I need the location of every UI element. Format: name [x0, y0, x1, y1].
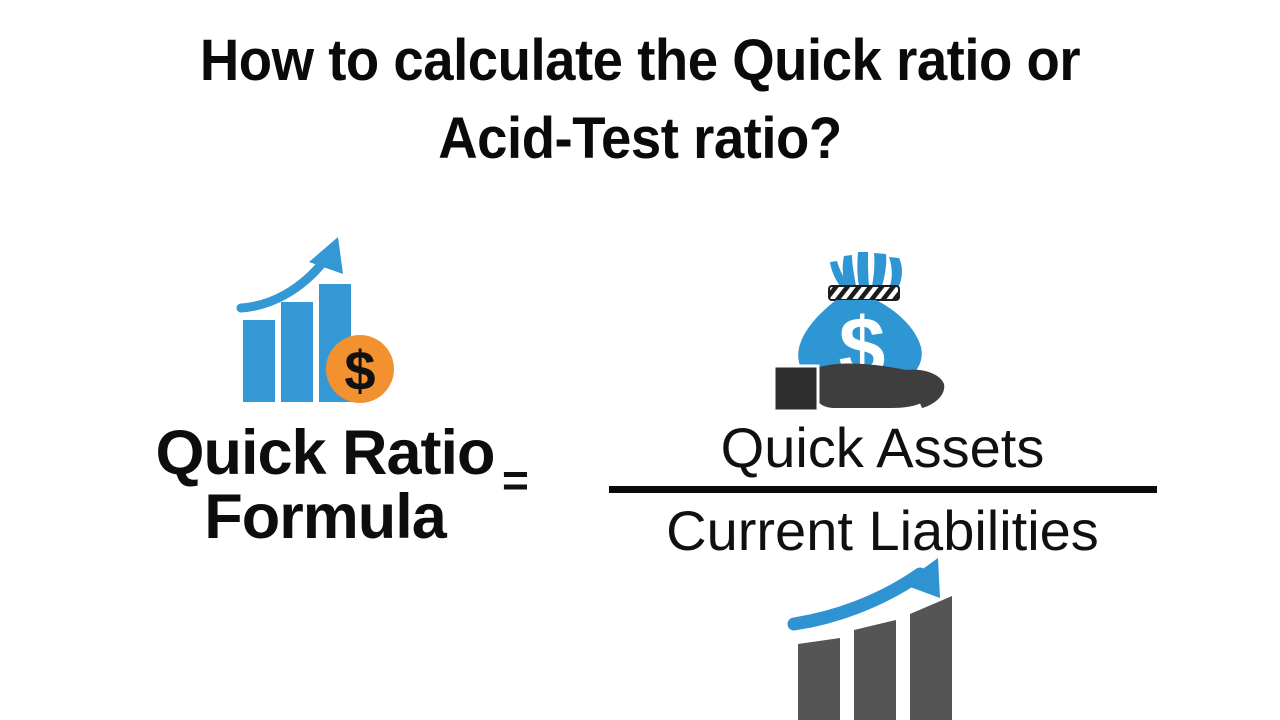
formula-label-line-1: Quick Ratio: [110, 422, 540, 484]
title-line-1: How to calculate the Quick ratio or: [38, 22, 1241, 100]
fraction-bar: [609, 486, 1157, 493]
growth-bar-2: [854, 620, 896, 720]
money-bag-top: [830, 252, 902, 286]
svg-text:$: $: [344, 339, 375, 402]
formula-label-line-2: Formula: [110, 484, 540, 550]
bar-chart-dollar-icon: $: [235, 232, 405, 402]
quick-ratio-fraction: Quick Assets Current Liabilities: [600, 415, 1165, 566]
growth-bar-chart-icon: [788, 556, 968, 720]
money-bag-tie: [829, 286, 899, 300]
bar-2: [281, 302, 313, 402]
fraction-numerator: Quick Assets: [600, 415, 1165, 481]
quick-ratio-formula-group: $ Quick Ratio Formula: [110, 232, 540, 572]
dollar-coin-icon: $: [326, 335, 394, 403]
growth-bar-3: [910, 596, 952, 720]
equals-sign: =: [502, 457, 529, 503]
formula-label: Quick Ratio Formula: [110, 422, 540, 550]
bar-1: [243, 320, 275, 402]
page-title: How to calculate the Quick ratio or Acid…: [0, 22, 1280, 178]
sleeve-cuff: [774, 366, 818, 411]
slide-canvas: How to calculate the Quick ratio or Acid…: [0, 0, 1280, 720]
growth-bar-1: [798, 638, 840, 720]
title-line-2: Acid-Test ratio?: [38, 100, 1241, 178]
open-hand-icon: [812, 364, 944, 408]
money-bag-in-hand-icon: $: [772, 248, 952, 413]
